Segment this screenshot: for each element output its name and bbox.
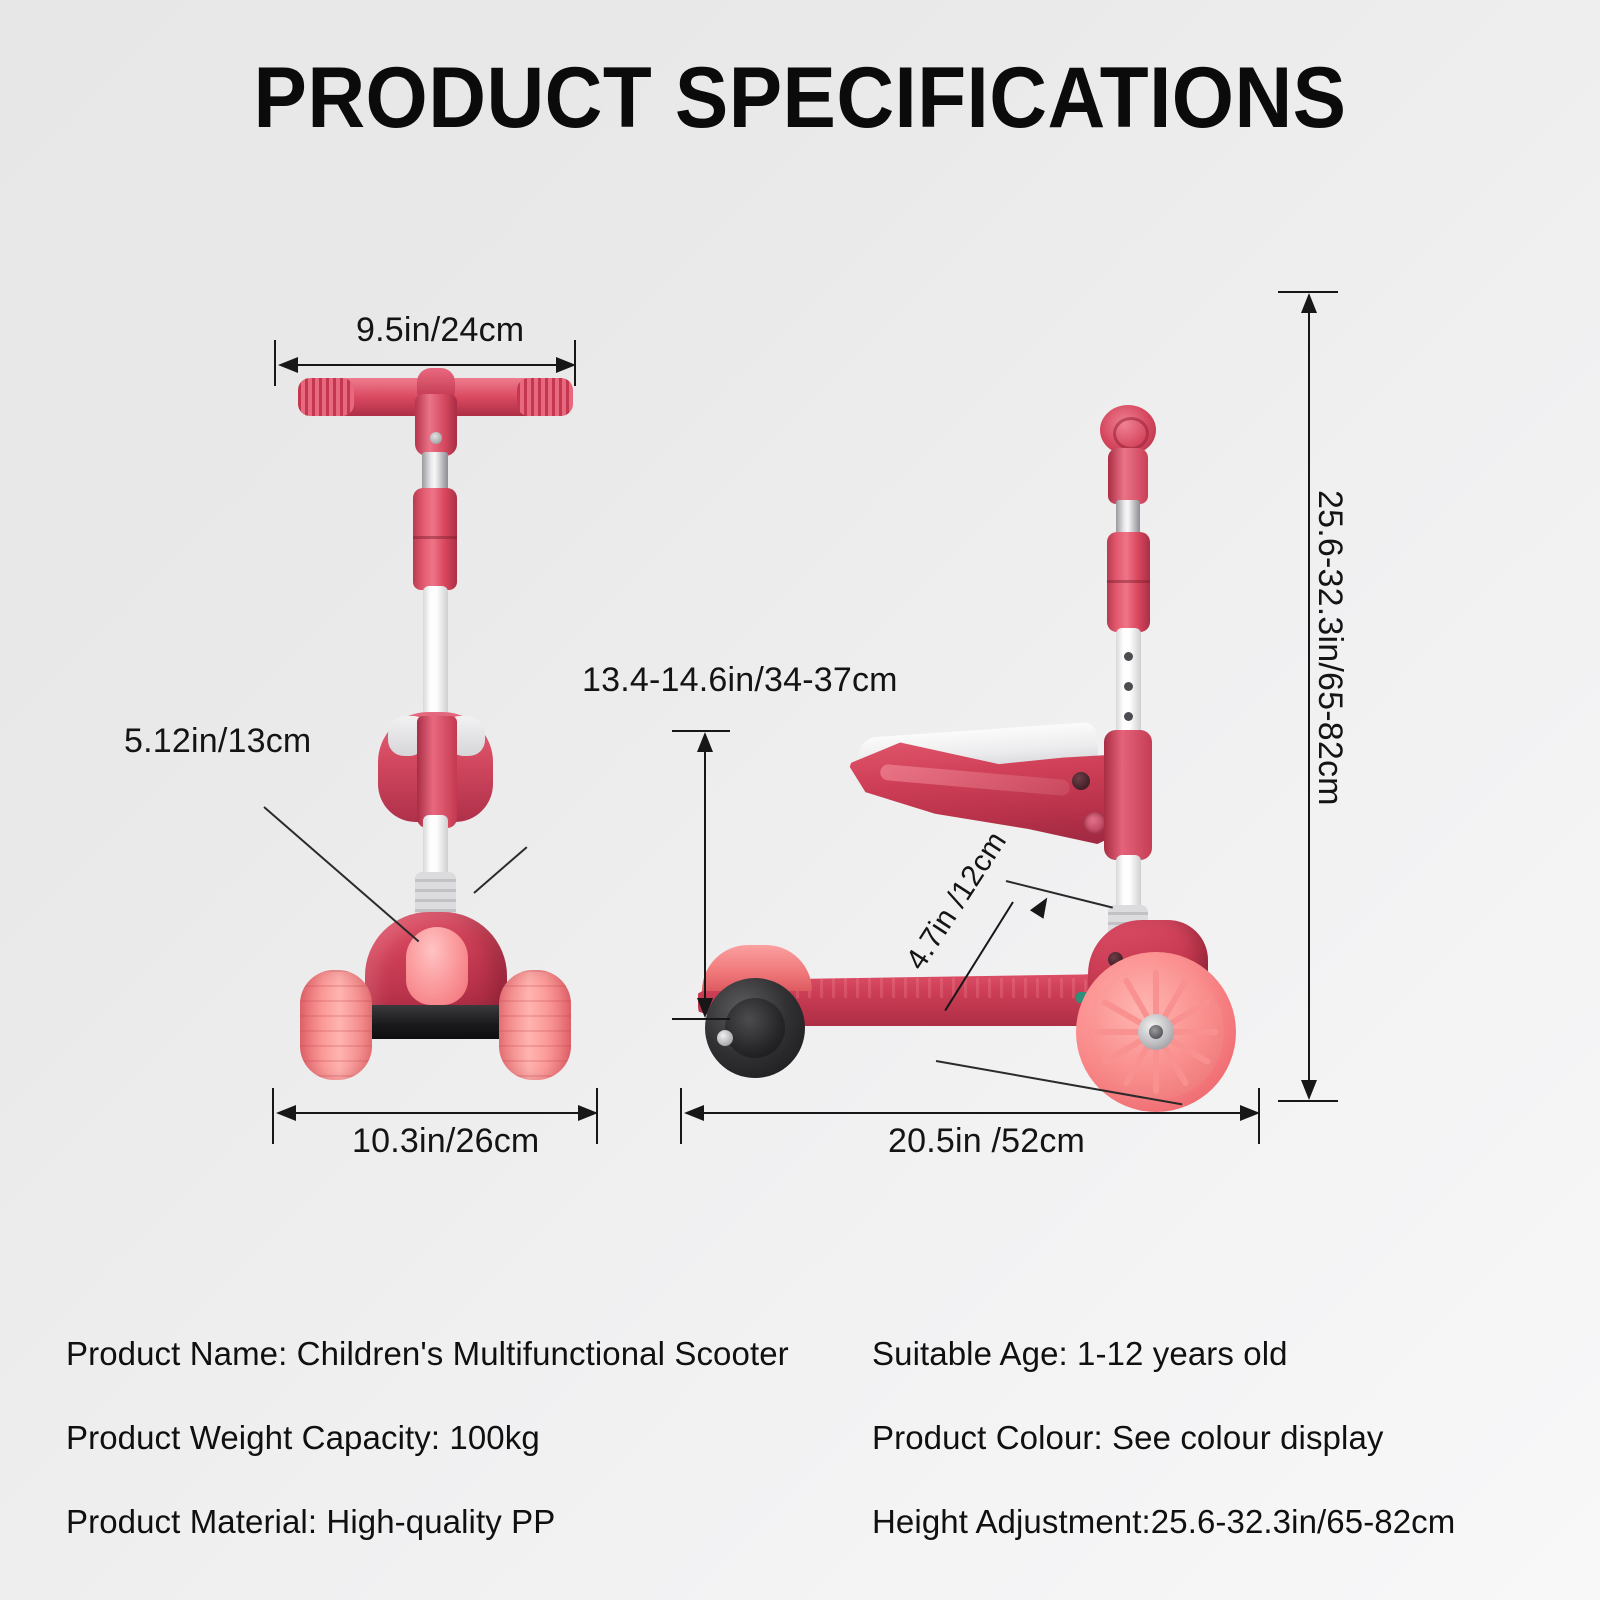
side-length-arrow-right (1240, 1105, 1260, 1121)
side-grip-endcap-ring (1113, 417, 1149, 450)
dimension-side-seat-height: 13.4-14.6in/34-37cm (582, 661, 898, 700)
spec-weight-capacity: Product Weight Capacity: 100kg (66, 1419, 789, 1457)
side-seat-mount-collar (1104, 730, 1152, 860)
side-pole-hole-2 (1124, 682, 1133, 691)
dimension-front-deck-height: 5.12in/13cm (124, 722, 311, 761)
front-height-lock-collar (413, 488, 457, 590)
seat-height-dimension-line (704, 742, 706, 1010)
front-left-wheel-tread (300, 970, 372, 1080)
front-width-arrow-left (278, 357, 298, 373)
dimension-side-total-length: 20.5in /52cm (888, 1122, 1085, 1161)
front-track-dimension-line (286, 1112, 582, 1114)
front-width-ext-left (274, 340, 276, 386)
side-pole-hole-1 (1124, 652, 1133, 661)
specs-right-column: Suitable Age: 1-12 years old Product Col… (872, 1335, 1455, 1541)
front-track-arrow-left (276, 1105, 296, 1121)
front-yoke-bolt (430, 432, 442, 444)
dimension-front-handlebar-width: 9.5in/24cm (356, 311, 524, 350)
front-width-dimension-line (288, 364, 560, 366)
side-handlebar-yoke (1108, 448, 1148, 504)
side-pole-hole-3 (1124, 712, 1133, 721)
seat-height-arrow-up (697, 732, 713, 752)
front-track-ext-left (272, 1088, 274, 1144)
total-height-arrow-down (1301, 1080, 1317, 1100)
side-seat-pivot (1084, 812, 1106, 834)
front-width-arrow-right (556, 357, 576, 373)
total-height-arrow-up (1301, 293, 1317, 313)
side-view-scooter (680, 400, 1260, 1110)
side-rear-wheel-inner (725, 998, 785, 1058)
spec-height-adjustment: Height Adjustment:25.6-32.3in/65-82cm (872, 1503, 1455, 1541)
seat-height-arrow-down (697, 998, 713, 1018)
side-length-dimension-line (694, 1112, 1244, 1114)
dimension-side-handlebar-height: 25.6-32.3in/65-82cm (1310, 490, 1349, 806)
spec-colour: Product Colour: See colour display (872, 1419, 1455, 1457)
side-collar-seam (1107, 580, 1150, 583)
front-track-arrow-right (578, 1105, 598, 1121)
seat-height-ext-bottom (672, 1018, 730, 1020)
side-front-wheel-hub-bolt (1149, 1025, 1163, 1039)
front-view-scooter (265, 360, 605, 1100)
front-left-grip (298, 378, 354, 416)
front-stem-yoke (415, 394, 457, 456)
side-rear-axle-bolt (717, 1030, 733, 1046)
front-collar-seam (413, 536, 457, 539)
side-seat-hinge-bolt (1072, 772, 1090, 790)
page-title: PRODUCT SPECIFICATIONS (56, 55, 1544, 141)
specification-sheet: PRODUCT SPECIFICATIONS (0, 0, 1600, 1600)
specs-left-column: Product Name: Children's Multifunctional… (66, 1335, 789, 1541)
side-length-ext-left (680, 1088, 682, 1144)
front-right-wheel-tread (499, 970, 571, 1080)
dimension-front-wheel-track: 10.3in/26cm (352, 1122, 539, 1161)
total-height-ext-bottom (1278, 1100, 1338, 1102)
front-right-grip (517, 378, 573, 416)
spec-suitable-age: Suitable Age: 1-12 years old (872, 1335, 1455, 1373)
front-seat-center-bracket (417, 716, 457, 828)
spec-product-name: Product Name: Children's Multifunctional… (66, 1335, 789, 1373)
side-length-arrow-left (684, 1105, 704, 1121)
spec-material: Product Material: High-quality PP (66, 1503, 789, 1541)
